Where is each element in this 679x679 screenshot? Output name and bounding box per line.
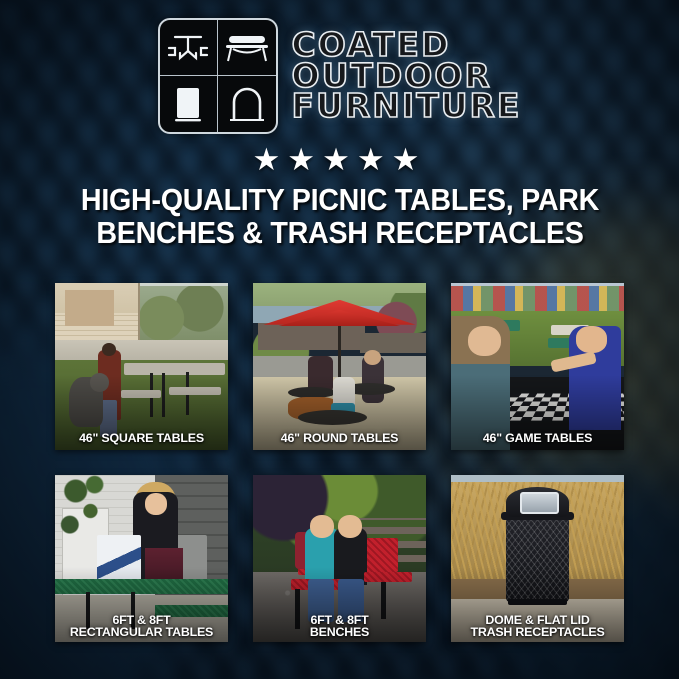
five-star-rating: ★★★★★ [0, 144, 679, 175]
tile-caption: 6FT & 8FT BENCHES [253, 614, 426, 639]
tile-caption-line-2: TRASH RECEPTACLES [451, 626, 624, 639]
logo-lockup: COATED OUTDOOR FURNITURE [0, 18, 679, 134]
caption-scrim [451, 283, 624, 450]
brand-wordmark: COATED OUTDOOR FURNITURE [292, 30, 522, 122]
headline-line-2: BENCHES & TRASH RECEPTACLES [58, 217, 622, 250]
brand-word-furniture: FURNITURE [292, 91, 522, 122]
logo-icon-grid [158, 18, 278, 134]
tile-caption: DOME & FLAT LID TRASH RECEPTACLES [451, 614, 624, 639]
tile-caption-line-1: 46" SQUARE TABLES [55, 432, 228, 445]
product-tile-square-tables[interactable]: 46" SQUARE TABLES [55, 283, 228, 450]
promotional-banner: COATED OUTDOOR FURNITURE ★★★★★ HIGH-QUAL… [0, 0, 679, 679]
tile-caption: 46" SQUARE TABLES [55, 432, 228, 445]
product-category-grid: 46" SQUARE TABLES 46" ROUND TABLES [55, 283, 624, 642]
product-tile-rectangular-tables[interactable]: 6FT & 8FT RECTANGULAR TABLES [55, 475, 228, 642]
caption-scrim [55, 283, 228, 450]
tile-caption: 46" ROUND TABLES [253, 432, 426, 445]
tile-caption-line-1: 46" GAME TABLES [451, 432, 624, 445]
tile-caption-line-1: 46" ROUND TABLES [253, 432, 426, 445]
product-tile-trash-receptacles[interactable]: DOME & FLAT LID TRASH RECEPTACLES [451, 475, 624, 642]
tile-caption: 46" GAME TABLES [451, 432, 624, 445]
page-title: HIGH-QUALITY PICNIC TABLES, PARK BENCHES… [58, 184, 622, 249]
caption-scrim [253, 283, 426, 450]
product-tile-game-tables[interactable]: 46" GAME TABLES [451, 283, 624, 450]
tile-caption-line-2: BENCHES [253, 626, 426, 639]
tile-caption-line-2: RECTANGULAR TABLES [55, 626, 228, 639]
bike-rack-arch-icon [218, 76, 276, 132]
bench-icon [218, 20, 276, 76]
headline-line-1: HIGH-QUALITY PICNIC TABLES, PARK [58, 184, 622, 217]
tile-caption: 6FT & 8FT RECTANGULAR TABLES [55, 614, 228, 639]
product-tile-benches[interactable]: 6FT & 8FT BENCHES [253, 475, 426, 642]
trash-can-icon [160, 76, 218, 132]
picnic-table-icon [160, 20, 218, 76]
product-tile-round-tables[interactable]: 46" ROUND TABLES [253, 283, 426, 450]
brand-header: COATED OUTDOOR FURNITURE ★★★★★ HIGH-QUAL… [0, 18, 679, 249]
